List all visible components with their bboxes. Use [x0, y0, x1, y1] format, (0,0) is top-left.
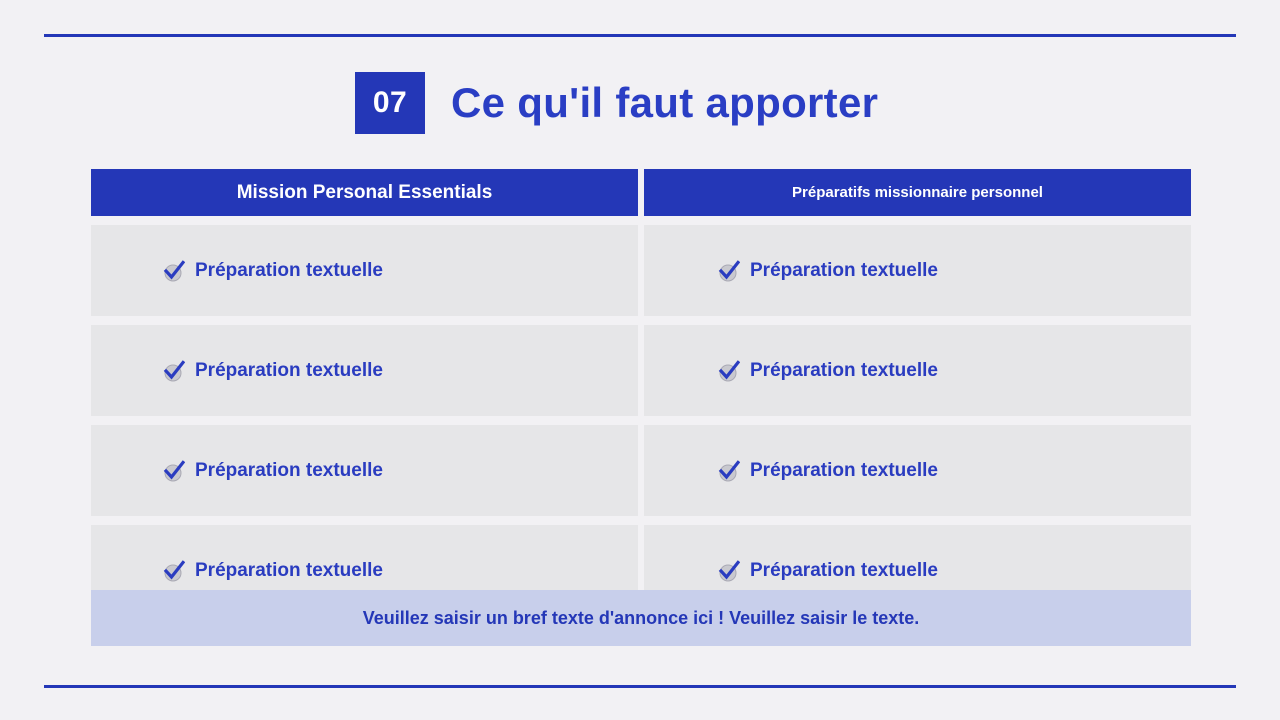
table-columns: Mission Personal Essentials Préparation … — [91, 169, 1191, 616]
column-header-right: Préparatifs missionnaire personnel — [644, 169, 1191, 216]
column-header-left: Mission Personal Essentials — [91, 169, 638, 216]
page-title: Ce qu'il faut apporter — [451, 79, 878, 127]
table-row[interactable]: Préparation textuelle — [91, 225, 638, 316]
slide-title-row: 07 Ce qu'il faut apporter — [355, 72, 878, 134]
table-row[interactable]: Préparation textuelle — [644, 325, 1191, 416]
list-item-label: Préparation textuelle — [195, 360, 383, 382]
check-circle-icon — [163, 260, 185, 282]
list-item-label: Préparation textuelle — [195, 560, 383, 582]
bottom-divider-rule — [44, 685, 1236, 688]
table-row[interactable]: Préparation textuelle — [91, 325, 638, 416]
check-circle-icon — [163, 360, 185, 382]
table-row[interactable]: Préparation textuelle — [644, 425, 1191, 516]
check-circle-icon — [718, 260, 740, 282]
table-row[interactable]: Préparation textuelle — [91, 425, 638, 516]
top-divider-rule — [44, 34, 1236, 37]
check-circle-icon — [163, 460, 185, 482]
check-circle-icon — [718, 560, 740, 582]
essentials-table: Mission Personal Essentials Préparation … — [91, 169, 1191, 616]
list-item-label: Préparation textuelle — [195, 460, 383, 482]
check-circle-icon — [718, 460, 740, 482]
footer-announcement-banner[interactable]: Veuillez saisir un bref texte d'annonce … — [91, 590, 1191, 646]
list-item-label: Préparation textuelle — [750, 260, 938, 282]
check-circle-icon — [163, 560, 185, 582]
list-item-label: Préparation textuelle — [750, 360, 938, 382]
list-item-label: Préparation textuelle — [750, 460, 938, 482]
slide-number-badge: 07 — [355, 72, 425, 134]
table-row[interactable]: Préparation textuelle — [644, 225, 1191, 316]
column-preparatifs-missionnaire-personnel: Préparatifs missionnaire personnel Prépa… — [644, 169, 1191, 616]
list-item-label: Préparation textuelle — [195, 260, 383, 282]
column-mission-personal-essentials: Mission Personal Essentials Préparation … — [91, 169, 638, 616]
check-circle-icon — [718, 360, 740, 382]
list-item-label: Préparation textuelle — [750, 560, 938, 582]
